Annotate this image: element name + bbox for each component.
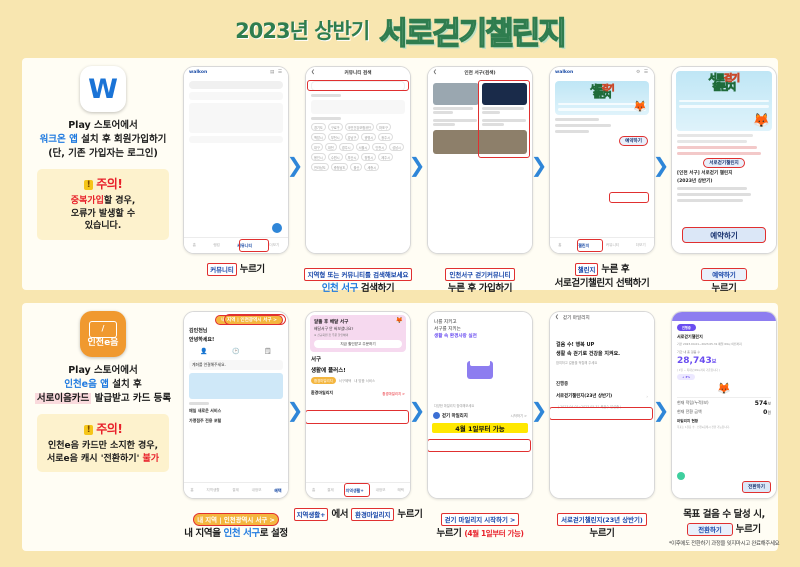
badge-challenge: 서로걷기챌린지 xyxy=(703,158,745,168)
highlight-box-search xyxy=(307,80,409,91)
chip-region-pill: 내 지역 | 인천광역시 서구 > xyxy=(193,513,279,526)
chip-challenge-icon: 챌린지 xyxy=(575,263,599,276)
delivery-banner[interactable]: 알뜰 후 배달 서구 배달서구 안 써보셨나요? ※ 신규회원 첫 주문 할인혜… xyxy=(310,315,406,352)
walkon-app-icon: W xyxy=(80,66,126,112)
recent-label xyxy=(311,94,341,97)
intro-line-1: Play 스토어에서 xyxy=(40,119,167,133)
title-main: 서로걷기챌린지 xyxy=(379,8,565,53)
search-bar[interactable] xyxy=(189,81,283,89)
step-eum-2: 알뜰 후 배달 서구 배달서구 안 써보셨나요? ※ 신규회원 첫 주문 할인혜… xyxy=(302,311,414,499)
incheon-eum-intro-text: Play 스토어에서 인천e음 앱 설치 후 서로이음카드 발급받고 카드 등록 xyxy=(35,364,171,405)
incheon-eum-intro: / 인천e음 Play 스토어에서 인천e음 앱 설치 후 서로이음카드 발급받… xyxy=(28,311,178,472)
back-icon[interactable]: ❮ xyxy=(311,70,315,75)
step-walkon-3: ❮ 인천 서구(검색) xyxy=(424,66,536,254)
back-icon[interactable]: ❮ xyxy=(433,70,437,75)
chip-community-icon: 커뮤니티 xyxy=(207,263,237,276)
phone-screen-challenge-progress[interactable]: 진행중 서로걷기챌린지 기간 2023.04.01~2023.05.31 매일 … xyxy=(671,311,777,499)
step-walkon-2: ❮ 커뮤니티 검색 경기도구로구국민건강보험공단 마포구백암시부천시강남구 광명… xyxy=(302,66,414,254)
highlight-box-selected-community xyxy=(478,80,530,158)
purple-header xyxy=(672,312,776,321)
walk-icon xyxy=(433,412,440,419)
eum-banner[interactable] xyxy=(189,373,283,399)
intro-line-3: (단, 기존 가입자는 로그인) xyxy=(40,147,167,161)
walkon-intro-text: Play 스토어에서 워크온 앱 설치 후 회원가입하기 (단, 기존 가입자는… xyxy=(40,119,167,160)
caption-walkon-5: 예약하기 누르기 xyxy=(651,262,797,295)
popular-label xyxy=(311,117,341,120)
challenge-title-2: (2023년 상반기) xyxy=(677,178,771,184)
chip-reserve-button: 예약하기 xyxy=(701,268,747,281)
convert-button[interactable]: 전환하기 xyxy=(742,481,771,493)
bottom-nav[interactable]: 홈랭킹 커뮤니티 더보기 xyxy=(184,237,288,253)
row-walkon: W Play 스토어에서 워크온 앱 설치 후 회원가입하기 (단, 기존 가입… xyxy=(22,58,778,290)
phone-screen-challenge-select[interactable]: ❮ 걷기 마일리지 걸음 수! 행복 UP 생활 속 걷기로 건강을 지켜요. … xyxy=(549,311,655,499)
warning-title: !주의! xyxy=(41,175,165,192)
step-eum-5: 진행중 서로걷기챌린지 기간 2023.04.01~2023.05.31 매일 … xyxy=(668,311,780,499)
walkon-intro: W Play 스토어에서 워크온 앱 설치 후 회원가입하기 (단, 기존 가입… xyxy=(28,66,178,240)
intro-line-2: 워크온 앱 설치 후 회원가입하기 xyxy=(40,133,167,147)
incheon-eum-warning-box: !주의! 인천e음 카드만 소지한 경우, 서로e음 캐시 '전환하기' 불가 xyxy=(37,414,169,472)
quick-menu[interactable]: 👤 🕑 🗒 xyxy=(188,348,284,355)
account-prompt[interactable]: 계좌를 연결해주세요. xyxy=(189,360,283,370)
chip-community-name: 인천서구 걷기커뮤니티 xyxy=(445,268,514,281)
tab-row[interactable]: 환경마일리지 서구혜택 내 맞춤 서비스 xyxy=(311,377,405,384)
chip-walk-mileage: 걷기 마일리지 시작하기 > xyxy=(441,513,520,526)
walkon-warning-box: !주의! 중복가입할 경우, 오류가 발생할 수 있습니다. xyxy=(37,169,169,240)
joined-community-heading xyxy=(189,136,283,143)
card-icon: / xyxy=(89,321,117,338)
page-title: 2023년 상반기 서로걷기챌린지 xyxy=(0,6,800,54)
incheon-eum-steps: 내 지역 | 인천광역시 서구 > 김인천님 안녕하세요! 👤 🕑 🗒 계좌를 … xyxy=(180,307,776,551)
phone-screen-search-results[interactable]: ❮ 인천 서구(검색) xyxy=(427,66,533,254)
step-eum-4: ❮ 걷기 마일리지 걸음 수! 행복 UP 생활 속 걷기로 건강을 지켜요. … xyxy=(546,311,658,499)
phone-screen-community-home[interactable]: walkon▤ ☰ 홈랭킹 커뮤니티 더보기 xyxy=(183,66,289,254)
availability-highlight: 4월 1일부터 가능 xyxy=(432,423,528,433)
chevron-right-icon: › xyxy=(646,394,648,399)
warning-title: !주의! xyxy=(41,420,165,437)
intro-line-1: Play 스토어에서 xyxy=(35,364,171,378)
mileage-row[interactable]: 환경마일리지 환경마일리지 > xyxy=(311,390,405,396)
reserve-button[interactable]: 예약하기 xyxy=(682,227,766,243)
envelope-illustration xyxy=(428,361,532,379)
phone-header-icons: ▤ ☰ xyxy=(270,70,283,75)
result-card-1[interactable] xyxy=(433,81,479,115)
profile-icon[interactable]: 👤 xyxy=(200,348,207,355)
section-heading xyxy=(189,92,283,100)
highlight-box-mileage xyxy=(305,410,409,424)
highlight-box-challenge-item xyxy=(549,407,653,420)
highlight-box-community-nav xyxy=(239,239,269,252)
converted-row: 현재 전환 금액 0원 xyxy=(677,409,771,416)
accumulated-row: 현재 적립/누적(보) 574보 xyxy=(677,400,771,407)
settings-icon[interactable]: 🗒 xyxy=(264,348,272,355)
intro-line-2: 인천e음 앱 설치 후 xyxy=(35,378,171,392)
warning-body: 인천e음 카드만 소지한 경우, 서로e음 캐시 '전환하기' 불가 xyxy=(41,440,165,465)
fox-mascot-icon: 🦊 xyxy=(633,100,647,113)
nav-benefits[interactable]: 혜택 xyxy=(274,488,281,494)
step-eum-1: 내 지역 | 인천광역시 서구 > 김인천님 안녕하세요! 👤 🕑 🗒 계좌를 … xyxy=(180,311,292,499)
challenge-title: [인천 서구] 서로걷기 챌린지 xyxy=(677,170,771,176)
challenge-poster: 서로걷기 챌린지 🦊 xyxy=(555,81,649,115)
fox-mascot-icon: 🦊 xyxy=(396,317,403,324)
step-walkon-4: walkon⚙ ☰ 서로걷기 챌린지 🦊 예약하기 xyxy=(546,66,658,254)
highlight-box-walk-mileage xyxy=(427,439,531,452)
warning-badge-icon: ! xyxy=(84,180,94,190)
infographic-page: 2023년 상반기 서로걷기챌린지 W Play 스토어에서 워크온 앱 설치 … xyxy=(0,0,800,567)
warning-badge-icon: ! xyxy=(84,425,94,435)
phone-screen-challenge-list[interactable]: walkon⚙ ☰ 서로걷기 챌린지 🦊 예약하기 xyxy=(549,66,655,254)
phone-screen-local-life[interactable]: 알뜰 후 배달 서구 배달서구 안 써보셨나요? ※ 신규회원 첫 주문 할인혜… xyxy=(305,311,411,499)
chip-local-life-icon: 지역생활+ xyxy=(294,508,329,521)
floating-action-button[interactable] xyxy=(272,223,282,233)
history-icon[interactable]: 🕑 xyxy=(232,348,239,355)
warning-body: 중복가입할 경우, 오류가 발생할 수 있습니다. xyxy=(41,195,165,233)
challenge-poster: 서로걷기 챌린지 🦊 xyxy=(676,71,772,131)
chip-challenge-name: 서로걷기챌린지(23년 상반기) xyxy=(557,513,647,526)
phone-screen-environment-mileage[interactable]: 나를 지키고 서구를 지키는 생활 속 환경사랑 실천 다양한 마일리지 참여해… xyxy=(427,311,533,499)
recent-area xyxy=(311,100,405,114)
walk-mileage-row[interactable]: 걷기 마일리지 시작하기 > xyxy=(433,412,527,419)
challenge-item[interactable]: 서로걷기챌린지(23년 상반기) › xyxy=(556,393,648,399)
intro-line-3: 서로이음카드 발급받고 카드 등록 xyxy=(35,392,171,406)
step-eum-3: 나를 지키고 서구를 지키는 생활 속 환경사랑 실천 다양한 마일리지 참여해… xyxy=(424,311,536,499)
highlight-box-reserve xyxy=(609,192,649,203)
phone-screen-community-search[interactable]: ❮ 커뮤니티 검색 경기도구로구국민건강보험공단 마포구백암시부천시강남구 광명… xyxy=(305,66,411,254)
caption-eum-5: 목표 걸음 수 달성 시, 전환하기 누르기 *이후에도 전환하기 과정을 잊지… xyxy=(651,507,797,547)
convert-footnote: *이후에도 전환하기 과정을 잊지마시고 완료해주세요 xyxy=(651,539,797,547)
title-prefix: 2023년 상반기 xyxy=(235,15,369,45)
suggestion-card xyxy=(189,103,283,133)
order-button[interactable]: 지금 할인받고 주문하기 xyxy=(314,340,402,348)
bottom-nav[interactable]: 홈지역생활결제내정보 혜택 xyxy=(184,482,288,498)
incheon-eum-app-icon: / 인천e음 xyxy=(80,311,126,357)
highlight-box-local-nav xyxy=(344,483,370,497)
reserve-small-button[interactable]: 예약하기 xyxy=(619,136,648,146)
step-walkon-5: 서로걷기 챌린지 🦊 서로걷기챌린지 [인천 서구] 서로걷기 챌린지 xyxy=(668,66,780,254)
chip-search-hint: 지역형 또는 커뮤니티를 검색해보세요 xyxy=(304,268,413,281)
result-card-3[interactable] xyxy=(433,118,479,127)
fox-mascot-icon: 🦊 xyxy=(672,382,776,395)
fox-mascot-icon: 🦊 xyxy=(753,113,770,129)
chip-convert-button: 전환하기 xyxy=(687,523,733,536)
total-steps: 28,743보 xyxy=(677,356,771,366)
chip-environment-mileage: 환경마일리지 xyxy=(351,508,394,521)
row-incheon-eum: / 인천e음 Play 스토어에서 인천e음 앱 설치 후 서로이음카드 발급받… xyxy=(22,303,778,551)
highlight-box-region xyxy=(224,314,286,325)
trend-chip: + 3% xyxy=(677,374,695,380)
step-walkon-1: walkon▤ ☰ 홈랭킹 커뮤니티 더보기 xyxy=(180,66,292,254)
status-badge: 진행중 xyxy=(677,324,696,331)
phone-screen-eum-home[interactable]: 내 지역 | 인천광역시 서구 > 김인천님 안녕하세요! 👤 🕑 🗒 계좌를 … xyxy=(183,311,289,499)
phone-screen-challenge-detail[interactable]: 서로걷기 챌린지 🦊 서로걷기챌린지 [인천 서구] 서로걷기 챌린지 xyxy=(671,66,777,254)
back-icon[interactable]: ❮ xyxy=(555,315,559,320)
walkon-steps: walkon▤ ☰ 홈랭킹 커뮤니티 더보기 xyxy=(180,62,776,290)
highlight-box-challenge-nav xyxy=(577,239,603,252)
tag-chip-list[interactable]: 경기도구로구국민건강보험공단 마포구백암시부천시강남구 광명시광주시대구대전 경… xyxy=(311,123,405,171)
info-icon xyxy=(677,472,685,480)
